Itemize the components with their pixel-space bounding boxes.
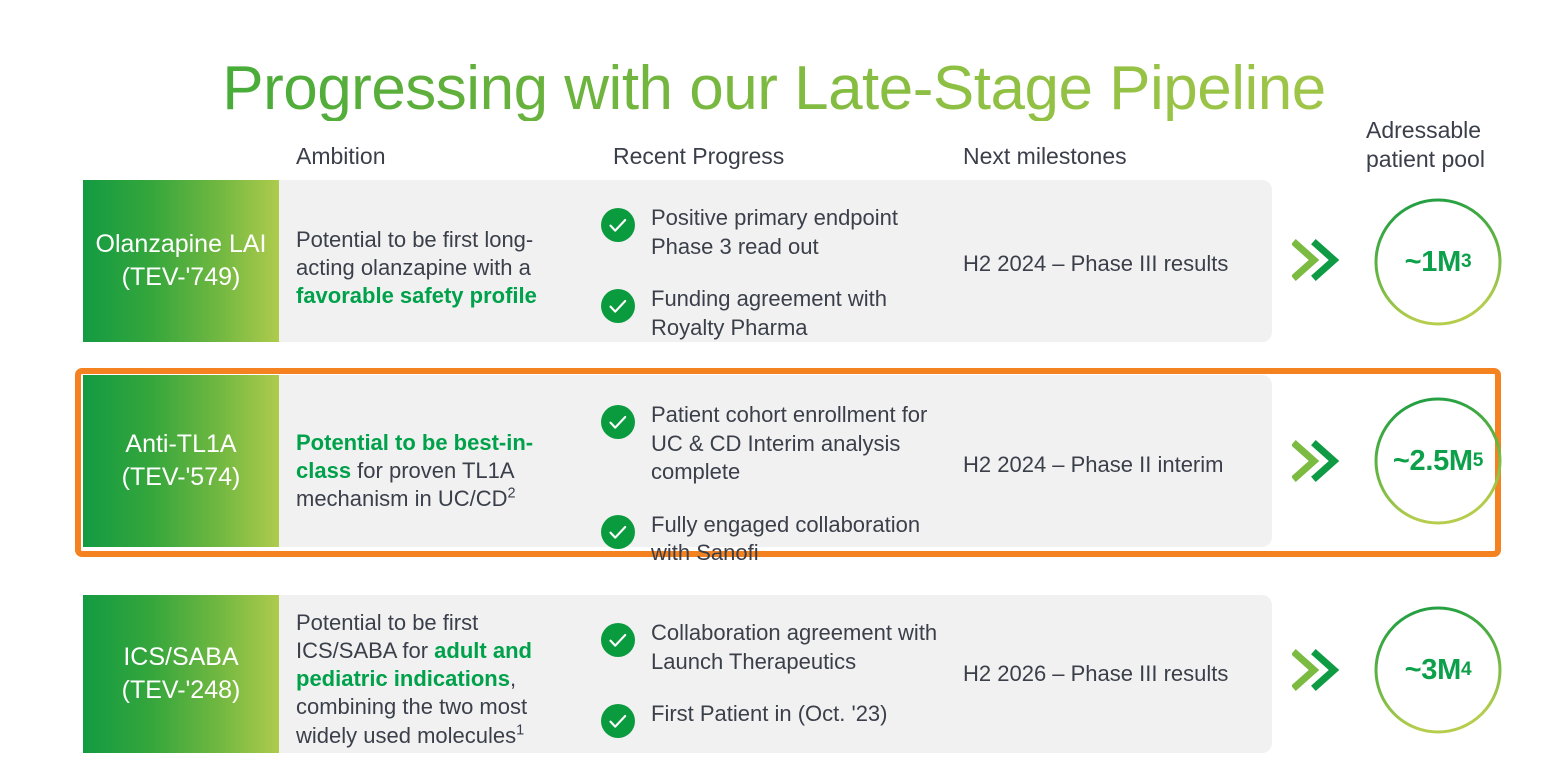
column-header-ambition: Ambition bbox=[296, 142, 385, 171]
progress-text: Fully engaged collaboration with Sanofi bbox=[651, 505, 941, 568]
drug-name: Olanzapine LAI bbox=[96, 228, 267, 262]
column-header-recent-progress: Recent Progress bbox=[613, 142, 784, 171]
drug-name: Anti-TL1A bbox=[125, 428, 236, 462]
column-header-patient-pool: Adressable patient pool bbox=[1366, 116, 1548, 174]
progress-item: Collaboration agreement with Launch Ther… bbox=[601, 613, 941, 676]
double-chevron-right-icon bbox=[1292, 439, 1344, 483]
page-title: Progressing with our Late-Stage Pipeline bbox=[0, 56, 1548, 121]
double-chevron-right-icon bbox=[1292, 648, 1344, 692]
pool-number: ~2.5M bbox=[1393, 445, 1473, 478]
drug-block: Anti-TL1A (TEV-'574) bbox=[83, 375, 279, 547]
check-circle-icon bbox=[601, 208, 635, 242]
progress-item: Patient cohort enrollment for UC & CD In… bbox=[601, 395, 941, 487]
patient-pool-circle: ~2.5M5 bbox=[1372, 395, 1504, 527]
drug-block: ICS/SABA (TEV-'248) bbox=[83, 595, 279, 753]
drug-block: Olanzapine LAI (TEV-'749) bbox=[83, 180, 279, 342]
next-milestone-text: H2 2026 – Phase III results bbox=[963, 660, 1263, 689]
progress-text: Collaboration agreement with Launch Ther… bbox=[651, 613, 941, 676]
patient-pool-value: ~2.5M5 bbox=[1372, 395, 1504, 527]
check-circle-icon bbox=[601, 623, 635, 657]
double-chevron-right-icon bbox=[1292, 238, 1344, 282]
check-circle-icon bbox=[601, 515, 635, 549]
column-header-patient-pool-line1: Adressable bbox=[1366, 116, 1548, 145]
patient-pool-circle: ~1M3 bbox=[1372, 196, 1504, 328]
column-header-patient-pool-line2: patient pool bbox=[1366, 145, 1548, 174]
progress-text: First Patient in (Oct. '23) bbox=[651, 694, 888, 729]
patient-pool-value: ~3M4 bbox=[1372, 604, 1504, 736]
pool-number: ~1M bbox=[1405, 246, 1461, 279]
progress-item: Positive primary endpoint Phase 3 read o… bbox=[601, 198, 941, 261]
pipeline-row-anti-tl1a[interactable]: Anti-TL1A (TEV-'574) Potential to be bes… bbox=[0, 375, 1548, 547]
progress-text: Funding agreement with Royalty Pharma bbox=[651, 279, 941, 342]
check-circle-icon bbox=[601, 704, 635, 738]
drug-code: (TEV-'749) bbox=[122, 261, 241, 295]
ambition-plain-1: Potential to be first long-acting olanza… bbox=[296, 227, 533, 280]
ambition-text: Potential to be first long-acting olanza… bbox=[296, 226, 558, 310]
ambition-highlight: favorable safety profile bbox=[296, 283, 537, 308]
progress-text: Positive primary endpoint Phase 3 read o… bbox=[651, 198, 941, 261]
recent-progress-list: Positive primary endpoint Phase 3 read o… bbox=[601, 198, 941, 360]
column-header-next-milestones: Next milestones bbox=[963, 142, 1127, 171]
next-milestone-text: H2 2024 – Phase III results bbox=[963, 250, 1263, 279]
pool-number: ~3M bbox=[1405, 654, 1461, 687]
drug-name: ICS/SABA bbox=[123, 641, 238, 675]
progress-item: Fully engaged collaboration with Sanofi bbox=[601, 505, 941, 568]
ambition-footnote: 2 bbox=[508, 486, 516, 502]
check-circle-icon bbox=[601, 289, 635, 323]
check-circle-icon bbox=[601, 405, 635, 439]
patient-pool-circle: ~3M4 bbox=[1372, 604, 1504, 736]
drug-code: (TEV-'248) bbox=[122, 674, 241, 708]
patient-pool-value: ~1M3 bbox=[1372, 196, 1504, 328]
progress-item: Funding agreement with Royalty Pharma bbox=[601, 279, 941, 342]
drug-code: (TEV-'574) bbox=[122, 461, 241, 495]
progress-item: First Patient in (Oct. '23) bbox=[601, 694, 941, 729]
ambition-text: Potential to be first ICS/SABA for adult… bbox=[296, 609, 558, 750]
column-headers: Ambition Recent Progress Next milestones… bbox=[0, 112, 1548, 176]
ambition-text: Potential to be best-in-class for proven… bbox=[296, 429, 558, 513]
pipeline-row-ics-saba[interactable]: ICS/SABA (TEV-'248) Potential to be firs… bbox=[0, 595, 1548, 753]
ambition-footnote: 1 bbox=[516, 722, 524, 738]
recent-progress-list: Collaboration agreement with Launch Ther… bbox=[601, 613, 941, 747]
pipeline-row-olanzapine[interactable]: Olanzapine LAI (TEV-'749) Potential to b… bbox=[0, 180, 1548, 342]
progress-text: Patient cohort enrollment for UC & CD In… bbox=[651, 395, 941, 487]
recent-progress-list: Patient cohort enrollment for UC & CD In… bbox=[601, 395, 941, 586]
next-milestone-text: H2 2024 – Phase II interim bbox=[963, 451, 1263, 480]
